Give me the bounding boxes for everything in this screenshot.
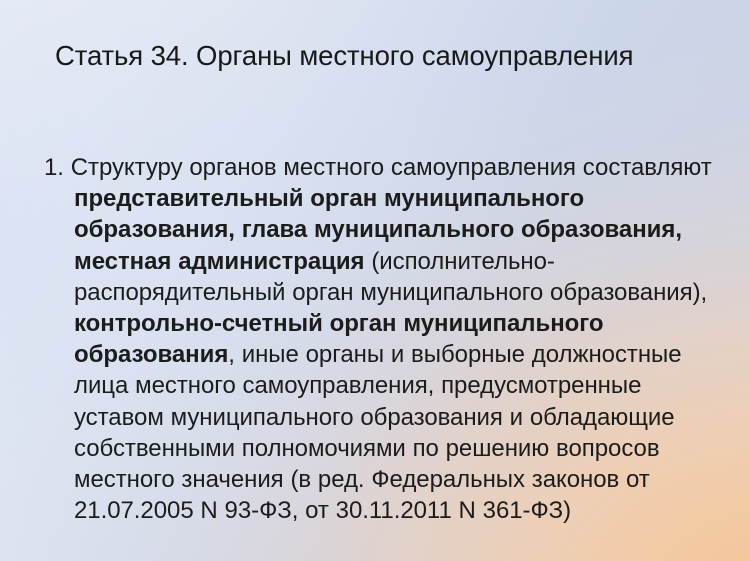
body-paragraph: 1. Структуру органов местного самоуправл…: [44, 152, 712, 526]
slide-content: Статья 34. Органы местного самоуправлени…: [0, 0, 750, 561]
body-run-regular: , иные органы и выборные должностные лиц…: [74, 341, 682, 524]
body-run-regular: 1. Структуру органов местного самоуправл…: [44, 154, 712, 181]
slide-title: Статья 34. Органы местного самоуправлени…: [55, 40, 705, 72]
presentation-slide: Статья 34. Органы местного самоуправлени…: [0, 0, 750, 561]
slide-body: 1. Структуру органов местного самоуправл…: [44, 128, 712, 550]
